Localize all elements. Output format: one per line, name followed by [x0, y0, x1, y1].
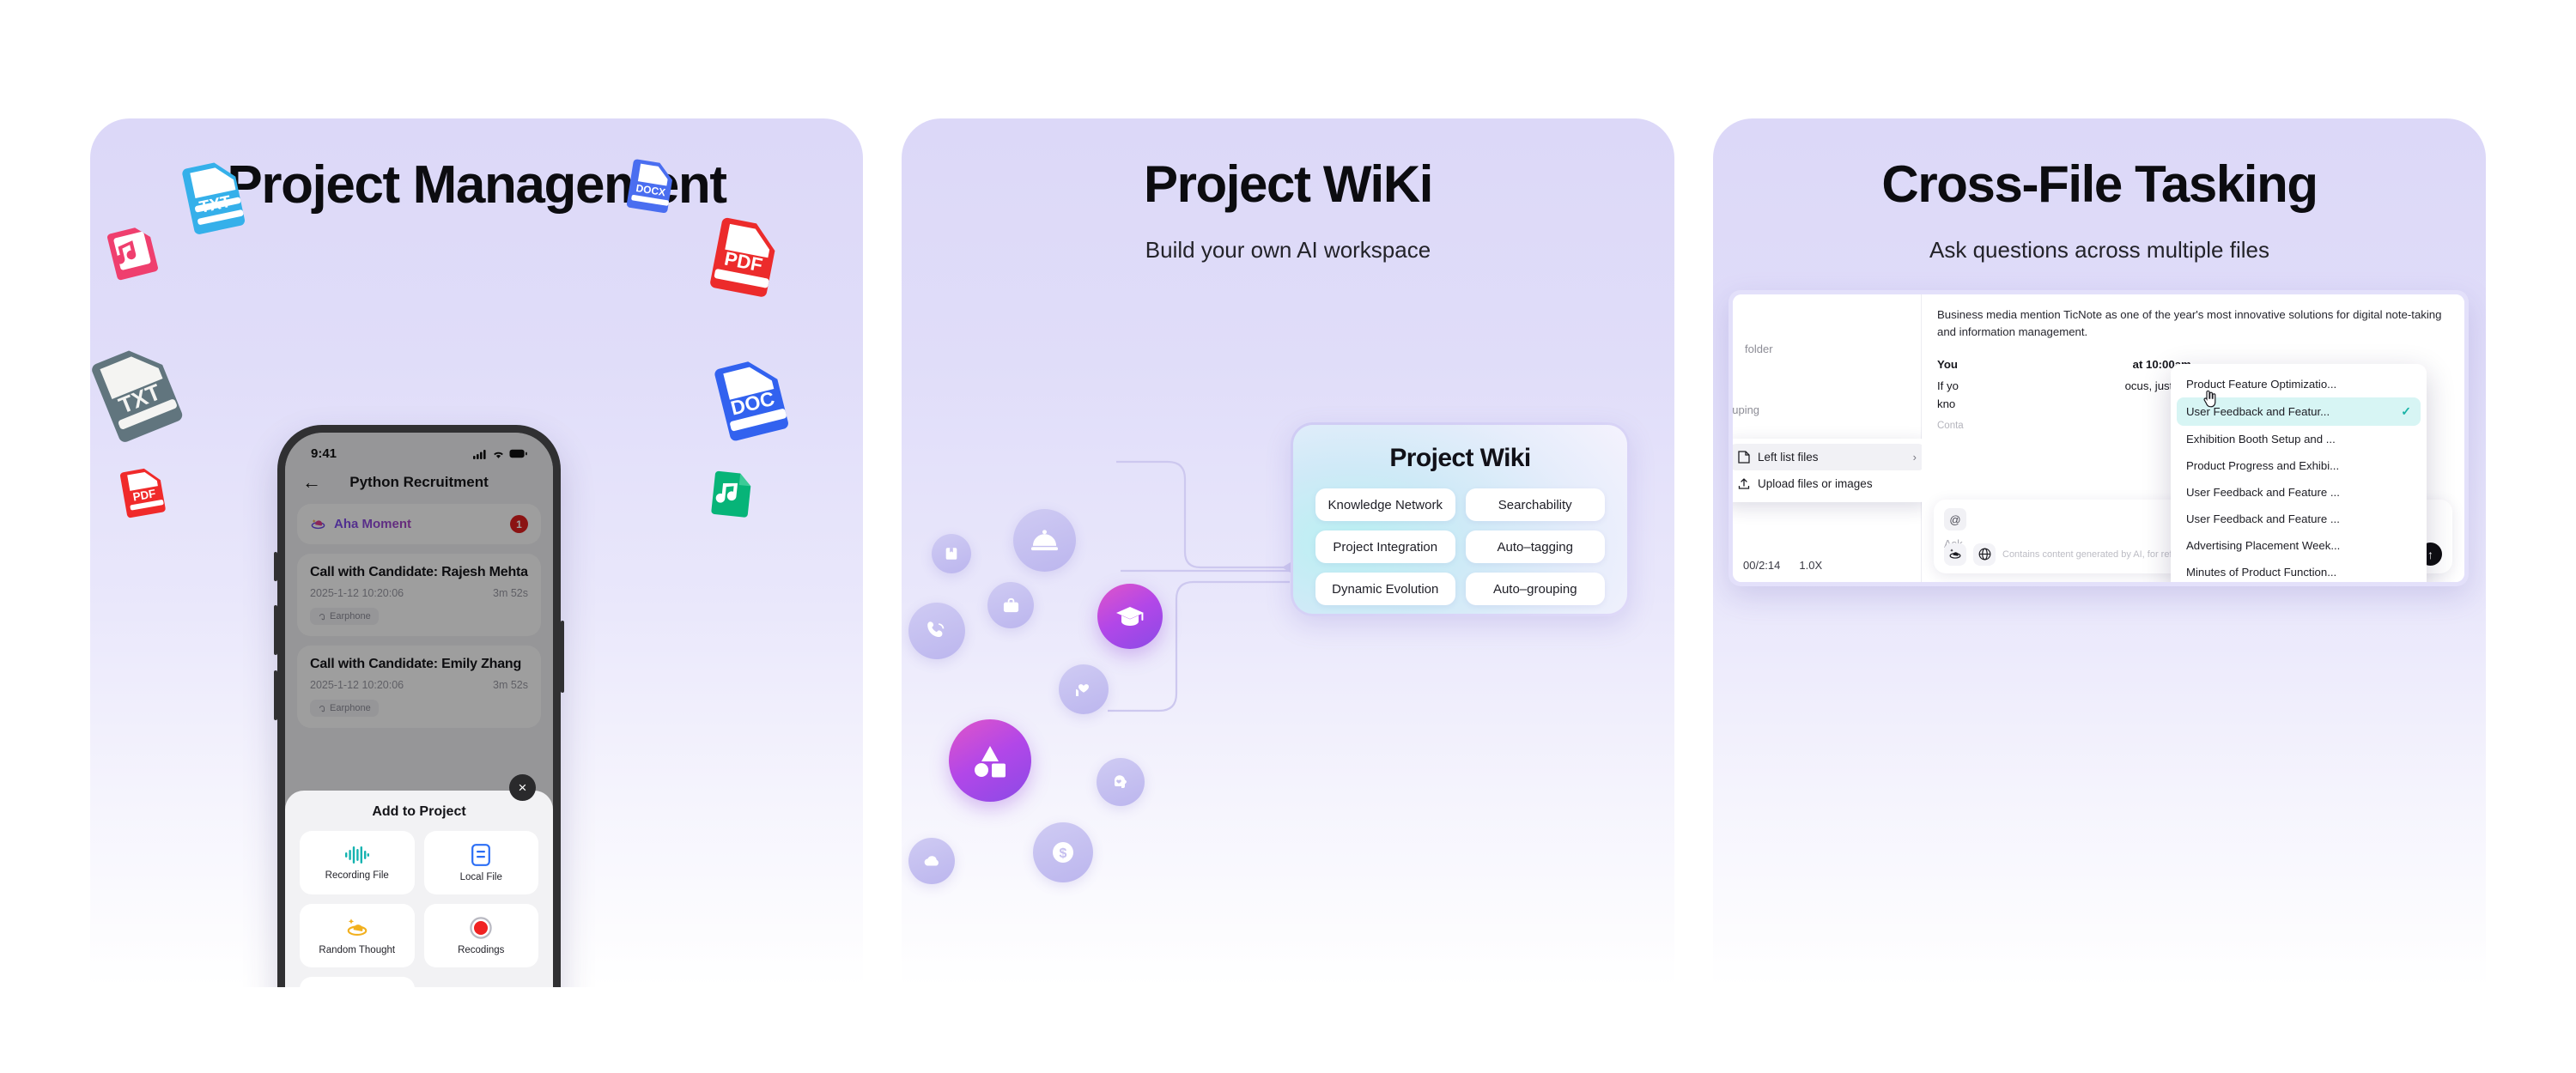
doc-file-icon: DOC — [707, 350, 798, 441]
waveform-icon — [344, 846, 370, 864]
phone-call-icon — [925, 619, 949, 643]
project-wiki-card: Project Wiki Knowledge Network Searchabi… — [1291, 422, 1630, 616]
earphone-icon — [318, 612, 326, 621]
recording-date: 2025-1-12 10:20:06 — [310, 679, 404, 691]
aha-badge: 1 — [510, 515, 528, 533]
recording-source-tag: Earphone — [310, 608, 379, 625]
phone-volume-down — [274, 670, 277, 720]
txt-file-icon: TXT — [174, 153, 257, 235]
recording-list: Aha Moment 1 Call with Candidate: Rajesh… — [285, 500, 553, 728]
dollar-coin-icon: $ — [1050, 840, 1076, 865]
globe-icon[interactable] — [1973, 543, 1996, 566]
tag-label: Earphone — [330, 703, 371, 713]
dropdown-item[interactable]: User Feedback and Feature ... — [2171, 479, 2427, 506]
music-file-icon — [104, 221, 162, 280]
tile-deep-research-report[interactable]: Deep Research Report — [300, 977, 415, 987]
bubble-cloud — [908, 838, 955, 884]
aha-moment-icon — [310, 516, 326, 532]
signal-icon — [473, 449, 488, 459]
pdf-file-icon: PDF — [702, 211, 790, 299]
phone-mockup: 9:41 ← Python Recruitment — [277, 425, 561, 987]
book-icon — [944, 546, 959, 561]
recording-date: 2025-1-12 10:20:06 — [310, 587, 404, 599]
bubble-phone-call — [908, 603, 965, 659]
music-file-icon-green — [707, 466, 760, 519]
phone-nav-bar: ← Python Recruitment — [285, 461, 553, 500]
back-arrow-icon[interactable]: ← — [302, 473, 323, 492]
close-icon[interactable]: × — [509, 774, 536, 801]
panel-project-management: Project Management TXT TXT — [90, 118, 863, 987]
page-title: Python Recruitment — [323, 474, 515, 491]
file-icon — [1738, 451, 1750, 464]
dropdown-item[interactable]: Advertising Placement Week... — [2171, 532, 2427, 559]
earphone-icon — [318, 704, 326, 712]
bubble-graduation — [1097, 584, 1163, 649]
tile-local-file[interactable]: Local File — [424, 831, 539, 894]
upload-icon — [1738, 477, 1750, 490]
wiki-tag[interactable]: Searchability — [1466, 488, 1606, 521]
tile-recording-file[interactable]: Recording File — [300, 831, 415, 894]
wiki-tag[interactable]: Auto–grouping — [1466, 573, 1606, 605]
bubble-mind-heart — [1097, 758, 1145, 806]
dropdown-item[interactable]: User Feedback and Feature ... — [2171, 506, 2427, 532]
wiki-tag-grid: Knowledge Network Searchability Project … — [1315, 488, 1605, 605]
menu-item-label: Left list files — [1758, 451, 1819, 464]
menu-item-upload-files[interactable]: Upload files or images — [1733, 470, 1925, 497]
bubble-shapes — [949, 719, 1031, 802]
thought-icon[interactable] — [1944, 543, 1966, 566]
wiki-card-title: Project Wiki — [1315, 444, 1605, 473]
dropdown-item[interactable]: Product Progress and Exhibi... — [2171, 452, 2427, 479]
briefcase-icon — [1002, 597, 1020, 615]
bubble-briefcase — [987, 582, 1034, 628]
app-window: folder ouping eed Left list files › Uplo… — [1728, 290, 2469, 586]
thought-icon — [345, 917, 369, 939]
phone-power-button — [561, 621, 564, 693]
menu-item-left-list-files[interactable]: Left list files › — [1733, 444, 1925, 470]
phone-volume-up — [274, 605, 277, 655]
app-left-panel: folder ouping eed Left list files › Uplo… — [1733, 294, 1922, 582]
status-time: 9:41 — [311, 446, 337, 461]
recording-card[interactable]: Call with Candidate: Rajesh Mehta 2025-1… — [297, 554, 541, 636]
cloud-icon — [922, 854, 941, 868]
bubble-dollar: $ — [1033, 822, 1093, 882]
panel-cross-file-tasking: Cross-File Tasking Ask questions across … — [1713, 118, 2486, 987]
recording-card[interactable]: Call with Candidate: Emily Zhang 2025-1-… — [297, 646, 541, 728]
tile-random-thought[interactable]: Random Thought — [300, 904, 415, 967]
bubble-heart-hand — [1059, 664, 1109, 714]
user-body-left: If yo — [1937, 379, 1959, 392]
panel-project-wiki: Project WiKi Build your own AI workspace — [902, 118, 1674, 987]
chevron-right-icon: › — [1913, 451, 1917, 464]
mouse-cursor-icon — [2203, 391, 2218, 412]
pdf-file-icon-small: PDF — [116, 462, 173, 518]
tag-label: Earphone — [330, 611, 371, 621]
tile-label: Recodings — [458, 945, 504, 955]
recording-duration: 3m 52s — [493, 587, 528, 599]
mind-heart-icon — [1111, 773, 1130, 791]
wiki-tag[interactable]: Dynamic Evolution — [1315, 573, 1455, 605]
user-label: You — [1937, 358, 1958, 371]
bubble-service-bell — [1013, 509, 1076, 572]
wiki-tag[interactable]: Project Integration — [1315, 530, 1455, 563]
status-bar: 9:41 — [285, 433, 553, 461]
add-to-project-sheet: Add to Project Recording File — [285, 791, 553, 987]
mention-button[interactable]: @ — [1944, 508, 1966, 530]
graduation-cap-icon — [1115, 603, 1145, 629]
document-icon — [471, 844, 490, 866]
svg-text:$: $ — [1060, 846, 1067, 861]
tile-label: Random Thought — [319, 945, 395, 955]
aha-moment-label: Aha Moment — [334, 517, 502, 531]
audio-player-bar: 00/2:14 1.0X — [1743, 559, 1822, 572]
wiki-tag[interactable]: Knowledge Network — [1315, 488, 1455, 521]
txt-file-icon-gray: TXT — [90, 337, 189, 440]
record-dot-icon — [470, 917, 492, 939]
player-speed[interactable]: 1.0X — [1799, 559, 1822, 572]
docx-file-icon: DOCX — [623, 155, 683, 215]
wifi-icon — [492, 449, 505, 459]
player-time: 00/2:14 — [1743, 559, 1780, 572]
dropdown-item[interactable]: Exhibition Booth Setup and ... — [2171, 426, 2427, 452]
check-icon: ✓ — [2401, 404, 2411, 419]
panel-3-title: Cross-File Tasking — [1713, 155, 2486, 214]
heart-hand-icon — [1073, 680, 1094, 699]
battery-icon — [509, 449, 527, 458]
bubble-book — [932, 534, 971, 573]
bell-service-icon — [1030, 528, 1059, 554]
dropdown-item[interactable]: Minutes of Product Function... — [2171, 559, 2427, 582]
left-grouping-text: ouping — [1733, 403, 1759, 416]
panel-3-subtitle: Ask questions across multiple files — [1713, 237, 2486, 264]
tile-recordings[interactable]: Recodings — [424, 904, 539, 967]
file-context-menu: Left list files › Upload files or images — [1733, 439, 1930, 502]
assistant-message: Business media mention TicNote as one of… — [1937, 306, 2449, 342]
left-folder-text: folder — [1745, 343, 1773, 355]
menu-item-label: Upload files or images — [1758, 477, 1873, 490]
shapes-icon — [970, 743, 1010, 779]
phone-mute-switch — [274, 552, 277, 581]
tile-label: Recording File — [325, 870, 389, 881]
recording-duration: 3m 52s — [493, 679, 528, 691]
recording-title: Call with Candidate: Rajesh Mehta — [310, 565, 528, 580]
phone-screen: 9:41 ← Python Recruitment — [285, 433, 553, 987]
aha-moment-row[interactable]: Aha Moment 1 — [297, 504, 541, 544]
recording-source-tag: Earphone — [310, 700, 379, 717]
tile-label: Local File — [460, 872, 502, 882]
recording-title: Call with Candidate: Emily Zhang — [310, 657, 528, 672]
app-chat-panel: Business media mention TicNote as one of… — [1922, 294, 2464, 582]
sheet-title: Add to Project — [300, 804, 538, 820]
wiki-tag[interactable]: Auto–tagging — [1466, 530, 1606, 563]
marketing-feature-banner: Project Management TXT TXT — [0, 0, 2576, 1073]
